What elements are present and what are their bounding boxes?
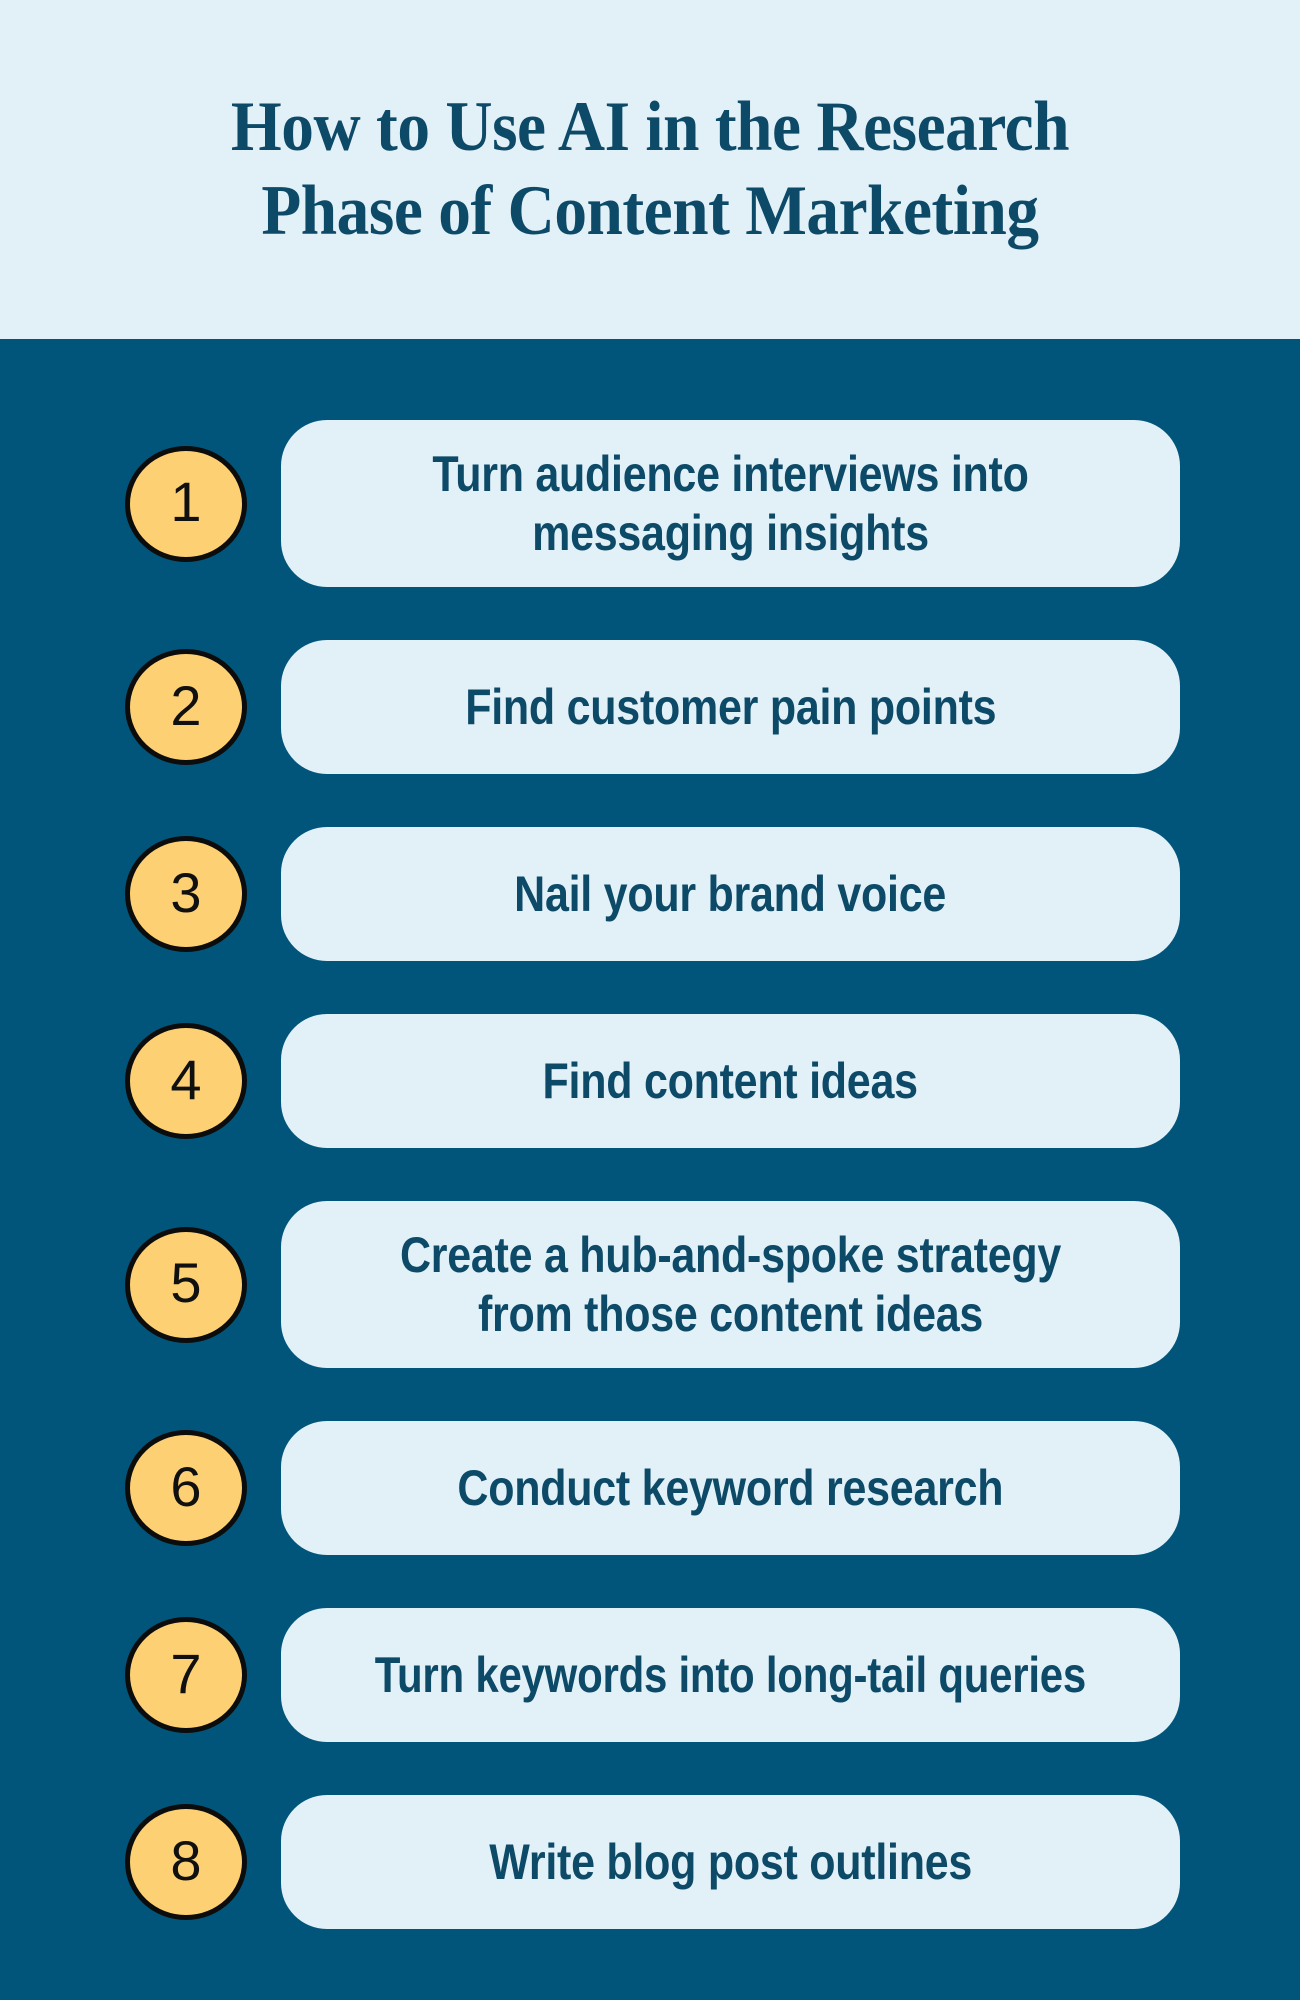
step-number-label: 5 — [170, 1255, 201, 1314]
step-number-label: 4 — [170, 1052, 201, 1111]
step-label: Conduct keyword research — [458, 1459, 1004, 1518]
list-item: 1 Turn audience interviews into messagin… — [0, 420, 1300, 587]
step-label: Find customer pain points — [465, 678, 996, 737]
step-number-badge: 6 — [125, 1430, 247, 1546]
step-number-label: 2 — [170, 678, 201, 737]
list-item: 2 Find customer pain points — [0, 640, 1300, 774]
step-number-badge: 5 — [125, 1227, 247, 1343]
step-pill[interactable]: Write blog post outlines — [281, 1795, 1180, 1929]
step-pill[interactable]: Conduct keyword research — [281, 1421, 1180, 1555]
step-number-badge: 8 — [125, 1804, 247, 1920]
list-item: 6 Conduct keyword research — [0, 1421, 1300, 1555]
step-number-badge: 2 — [125, 649, 247, 765]
list-item: 5 Create a hub-and-spoke strategy from t… — [0, 1201, 1300, 1368]
step-number-badge: 4 — [125, 1023, 247, 1139]
list-item: 8 Write blog post outlines — [0, 1795, 1300, 1929]
list-item: 7 Turn keywords into long-tail queries — [0, 1608, 1300, 1742]
step-pill[interactable]: Create a hub-and-spoke strategy from tho… — [281, 1201, 1180, 1368]
step-label: Turn audience interviews into messaging … — [366, 445, 1094, 562]
list-item: 3 Nail your brand voice — [0, 827, 1300, 961]
step-pill[interactable]: Find content ideas — [281, 1014, 1180, 1148]
step-pill[interactable]: Turn keywords into long-tail queries — [281, 1608, 1180, 1742]
step-number-label: 7 — [170, 1646, 201, 1705]
step-number-badge: 3 — [125, 836, 247, 952]
infographic-canvas: How to Use AI in the Research Phase of C… — [0, 0, 1300, 2000]
step-number-label: 8 — [170, 1833, 201, 1892]
step-number-label: 1 — [170, 474, 201, 533]
list-item: 4 Find content ideas — [0, 1014, 1300, 1148]
step-number-label: 3 — [170, 865, 201, 924]
header-band: How to Use AI in the Research Phase of C… — [0, 0, 1300, 339]
step-number-badge: 7 — [125, 1617, 247, 1733]
step-pill[interactable]: Find customer pain points — [281, 640, 1180, 774]
step-label: Create a hub-and-spoke strategy from tho… — [366, 1226, 1094, 1343]
step-number-label: 6 — [170, 1459, 201, 1518]
step-label: Nail your brand voice — [515, 865, 947, 924]
step-pill[interactable]: Nail your brand voice — [281, 827, 1180, 961]
step-label: Turn keywords into long-tail queries — [375, 1646, 1086, 1705]
step-number-badge: 1 — [125, 446, 247, 562]
step-pill[interactable]: Turn audience interviews into messaging … — [281, 420, 1180, 587]
step-label: Write blog post outlines — [489, 1833, 972, 1892]
step-label: Find content ideas — [543, 1052, 918, 1111]
steps-list: 1 Turn audience interviews into messagin… — [0, 420, 1300, 1982]
page-title: How to Use AI in the Research Phase of C… — [107, 86, 1193, 254]
